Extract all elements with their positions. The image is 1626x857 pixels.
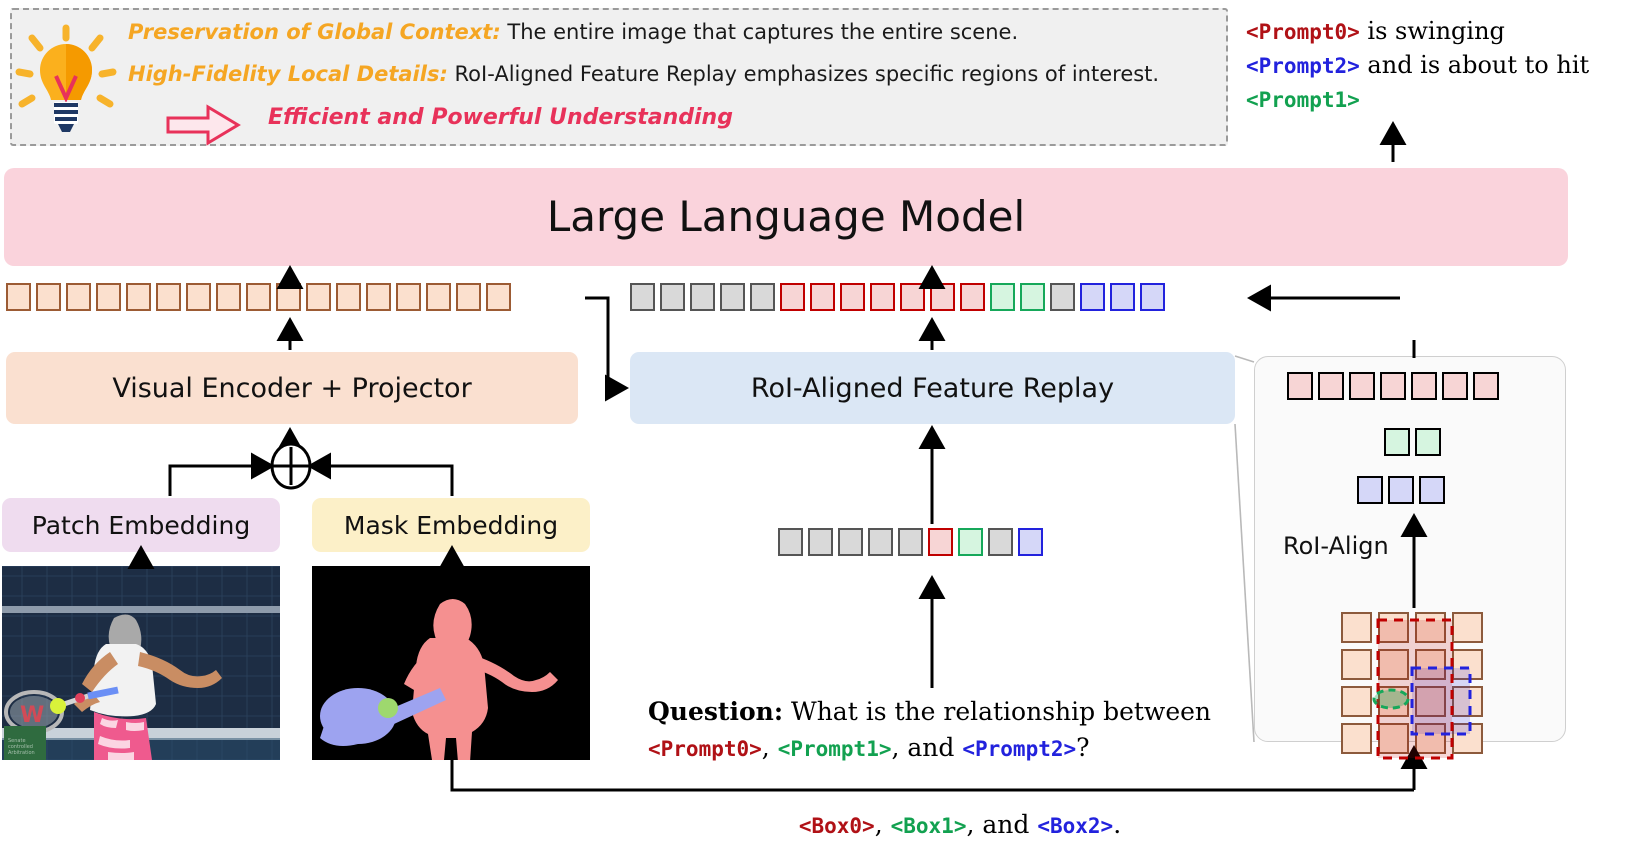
llm-input-token-row xyxy=(630,283,1170,311)
llm-input-token-17 xyxy=(1140,283,1165,311)
visual-token-15 xyxy=(456,283,481,311)
llm-input-token-8 xyxy=(870,283,895,311)
roi-blue-box-1 xyxy=(1388,476,1414,504)
roi-red-box-6 xyxy=(1473,372,1499,400)
visual-token-0 xyxy=(6,283,31,311)
llm-input-token-2 xyxy=(690,283,715,311)
boxes-end: . xyxy=(1113,810,1121,839)
llm-input-token-1 xyxy=(660,283,685,311)
llm-title: Large Language Model xyxy=(4,168,1568,266)
llm-input-token-9 xyxy=(900,283,925,311)
feature-cell-0-1 xyxy=(1378,612,1409,643)
box0-token: <Box0> xyxy=(799,814,875,838)
visual-token-row xyxy=(6,283,516,311)
feature-cell-3-2 xyxy=(1415,723,1446,754)
roi-align-label: RoI-Align xyxy=(1283,532,1389,560)
visual-token-2 xyxy=(66,283,91,311)
feature-cell-1-3 xyxy=(1452,649,1483,680)
feature-cell-0-0 xyxy=(1341,612,1372,643)
visual-token-10 xyxy=(306,283,331,311)
callout-line-1: Preservation of Global Context: The enti… xyxy=(128,20,1018,44)
feature-cell-2-3 xyxy=(1452,686,1483,717)
svg-text:W: W xyxy=(20,703,44,728)
answer-seg2: is swinging xyxy=(1360,17,1505,45)
visual-token-7 xyxy=(216,283,241,311)
llm-input-token-16 xyxy=(1110,283,1135,311)
question-token-2 xyxy=(838,528,863,556)
feature-cell-2-1 xyxy=(1378,686,1409,717)
llm-input-token-0 xyxy=(630,283,655,311)
question-prompt1: <Prompt1> xyxy=(778,737,892,761)
roi-red-box-2 xyxy=(1349,372,1375,400)
llm-input-token-15 xyxy=(1080,283,1105,311)
callout-line-2-text: RoI-Aligned Feature Replay emphasizes sp… xyxy=(448,62,1159,86)
llm-input-token-12 xyxy=(990,283,1015,311)
callout-line-2-emph: High-Fidelity Local Details: xyxy=(128,62,448,86)
large-language-model-block: Large Language Model xyxy=(4,168,1568,266)
visual-token-13 xyxy=(396,283,421,311)
llm-input-token-10 xyxy=(930,283,955,311)
roi-red-box-1 xyxy=(1318,372,1344,400)
roi-red-box-3 xyxy=(1380,372,1406,400)
visual-token-1 xyxy=(36,283,61,311)
feature-cell-2-2 xyxy=(1415,686,1446,717)
visual-token-14 xyxy=(426,283,451,311)
patch-embedding-block: Patch Embedding xyxy=(2,498,280,552)
feature-cell-3-3 xyxy=(1452,723,1483,754)
box1-token: <Box1> xyxy=(891,814,967,838)
roi-red-token-row xyxy=(1287,372,1504,400)
roi-blue-token-row xyxy=(1357,476,1450,504)
feature-cell-3-1 xyxy=(1378,723,1409,754)
question-prompt2: <Prompt2> xyxy=(962,737,1076,761)
question-label: Question: xyxy=(648,697,783,726)
llm-input-token-7 xyxy=(840,283,865,311)
visual-token-9 xyxy=(276,283,301,311)
feature-map-grid xyxy=(1341,612,1487,758)
roi-blue-box-2 xyxy=(1419,476,1445,504)
callout-line-1-emph: Preservation of Global Context: xyxy=(128,20,501,44)
llm-input-token-3 xyxy=(720,283,745,311)
feature-cell-1-2 xyxy=(1415,649,1446,680)
visual-token-4 xyxy=(126,283,151,311)
question-token-3 xyxy=(868,528,893,556)
question-token-7 xyxy=(988,528,1013,556)
question-token-0 xyxy=(778,528,803,556)
callout-conclusion: Efficient and Powerful Understanding xyxy=(268,105,733,130)
visual-encoder-label: Visual Encoder + Projector xyxy=(112,373,471,404)
visual-token-11 xyxy=(336,283,361,311)
question-token-1 xyxy=(808,528,833,556)
question-token-8 xyxy=(1018,528,1043,556)
llm-input-token-4 xyxy=(750,283,775,311)
feature-cell-3-0 xyxy=(1341,723,1372,754)
feature-cell-1-1 xyxy=(1378,649,1409,680)
svg-text:Arbitration: Arbitration xyxy=(8,750,35,756)
roi-blue-box-0 xyxy=(1357,476,1383,504)
roi-aligned-feature-replay-block: RoI-Aligned Feature Replay xyxy=(630,352,1235,424)
visual-encoder-projector-block: Visual Encoder + Projector xyxy=(6,352,578,424)
answer-prompt1-token: <Prompt1> xyxy=(1246,88,1360,112)
answer-prompt0-token: <Prompt0> xyxy=(1246,20,1360,44)
feature-cell-2-0 xyxy=(1341,686,1372,717)
roi-replay-label: RoI-Aligned Feature Replay xyxy=(751,373,1114,404)
model-answer-text: <Prompt0> is swinging <Prompt2> and is a… xyxy=(1246,14,1618,116)
visual-token-12 xyxy=(366,283,391,311)
question-token-6 xyxy=(958,528,983,556)
mask-embedding-label: Mask Embedding xyxy=(344,511,558,540)
question-token-row xyxy=(778,528,1048,556)
visual-token-16 xyxy=(486,283,511,311)
visual-token-3 xyxy=(96,283,121,311)
feature-cell-0-3 xyxy=(1452,612,1483,643)
roi-red-box-0 xyxy=(1287,372,1313,400)
boxes-sep1: , xyxy=(875,810,891,839)
question-prompt0: <Prompt0> xyxy=(648,737,762,761)
callout-line-1-text: The entire image that captures the entir… xyxy=(501,20,1018,44)
tennis-player-photo: W SenatecontrolledArbitration xyxy=(2,566,280,760)
roi-red-box-5 xyxy=(1442,372,1468,400)
llm-input-token-14 xyxy=(1050,283,1075,311)
visual-token-6 xyxy=(186,283,211,311)
visual-token-8 xyxy=(246,283,271,311)
answer-seg4: and is about to hit xyxy=(1360,51,1589,79)
answer-prompt2-token: <Prompt2> xyxy=(1246,54,1360,78)
roi-green-box-1 xyxy=(1415,428,1441,456)
callout-line-2: High-Fidelity Local Details: RoI-Aligned… xyxy=(128,62,1159,86)
patch-embedding-label: Patch Embedding xyxy=(32,511,250,540)
llm-input-token-6 xyxy=(810,283,835,311)
question-end: ? xyxy=(1076,733,1089,762)
question-sep1: , xyxy=(762,733,778,762)
roi-red-box-4 xyxy=(1411,372,1437,400)
llm-input-token-13 xyxy=(1020,283,1045,311)
mask-embedding-block: Mask Embedding xyxy=(312,498,590,552)
visual-token-5 xyxy=(156,283,181,311)
segmentation-mask-image xyxy=(312,566,590,760)
question-sep2: , and xyxy=(892,733,963,762)
question-body: What is the relationship between xyxy=(783,697,1211,726)
question-text: Question: What is the relationship betwe… xyxy=(648,694,1268,767)
question-token-5 xyxy=(928,528,953,556)
sum-circle-icon xyxy=(272,444,310,488)
feature-cell-1-0 xyxy=(1341,649,1372,680)
llm-input-token-11 xyxy=(960,283,985,311)
boxes-sep2: , and xyxy=(966,810,1037,839)
llm-input-token-5 xyxy=(780,283,805,311)
question-token-4 xyxy=(898,528,923,556)
feature-cell-0-2 xyxy=(1415,612,1446,643)
roi-green-token-row xyxy=(1384,428,1446,456)
box-tokens-line: <Box0>, <Box1>, and <Box2>. xyxy=(700,810,1220,839)
box2-token: <Box2> xyxy=(1037,814,1113,838)
roi-green-box-0 xyxy=(1384,428,1410,456)
